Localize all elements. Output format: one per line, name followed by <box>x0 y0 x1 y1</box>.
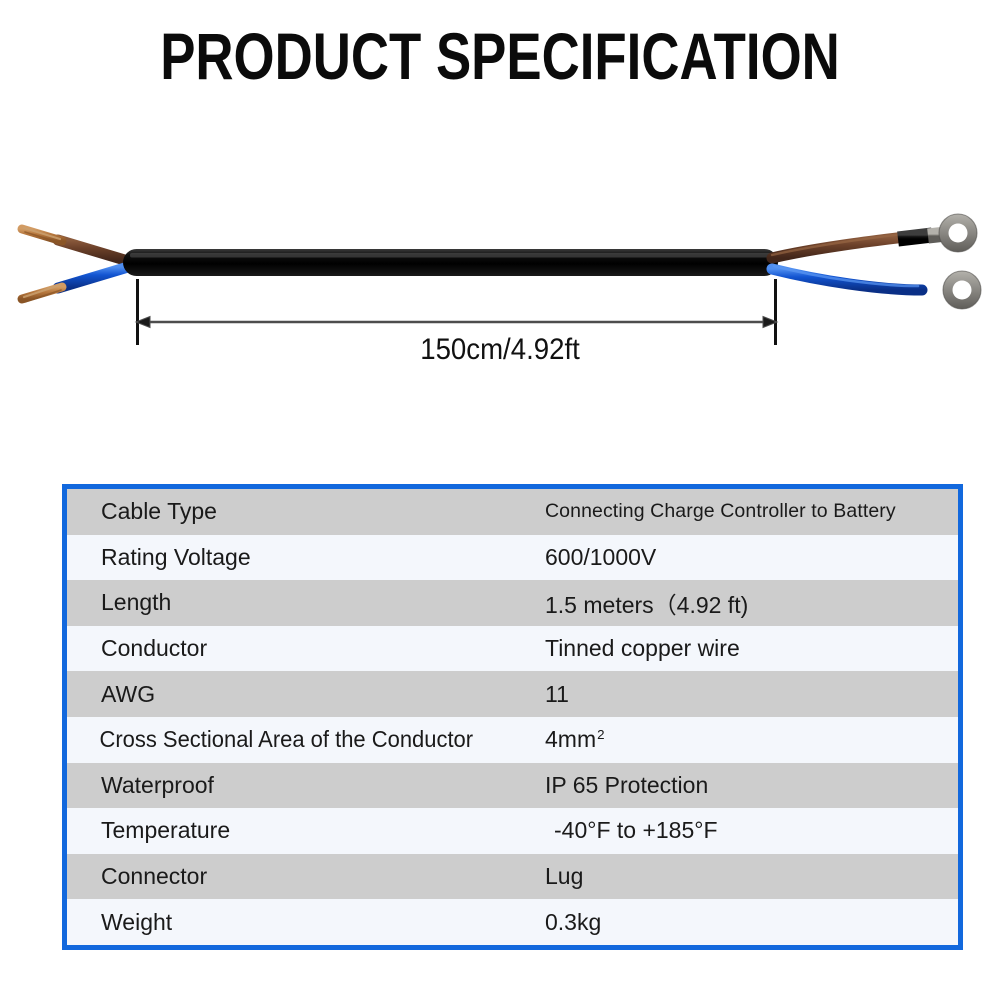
table-row: Cable Type Connecting Charge Controller … <box>67 489 958 535</box>
page-title: PRODUCT SPECIFICATION <box>100 24 900 88</box>
spec-label: Cross Sectional Area of the Conductor <box>67 726 523 753</box>
spec-label: Weight <box>67 909 545 936</box>
spec-label: AWG <box>67 681 545 708</box>
spec-value: -40°F to +185°F <box>545 817 958 844</box>
spec-label: Cable Type <box>67 498 545 525</box>
right-blue-wire-with-lug <box>772 266 981 309</box>
spec-label: Temperature <box>67 817 545 844</box>
spec-value: Connecting Charge Controller to Battery <box>545 500 958 523</box>
spec-value: Tinned copper wire <box>545 635 958 662</box>
table-row: Length 1.5 meters（4.92 ft) <box>67 580 958 626</box>
spec-value: 1.5 meters（4.92 ft) <box>545 586 958 620</box>
spec-value-superscript: 2 <box>596 727 604 742</box>
table-row: Temperature -40°F to +185°F <box>67 808 958 854</box>
spec-value: 600/1000V <box>545 544 958 571</box>
spec-label: Conductor <box>67 635 545 662</box>
spec-label: Rating Voltage <box>67 544 545 571</box>
table-row: Conductor Tinned copper wire <box>67 626 958 672</box>
table-row: Connector Lug <box>67 854 958 900</box>
spec-label: Length <box>67 589 545 616</box>
spec-label: Connector <box>67 863 545 890</box>
right-brown-wire-with-lug <box>772 214 977 258</box>
spec-label: Waterproof <box>67 772 545 799</box>
table-row: Cross Sectional Area of the Conductor 4m… <box>67 717 958 763</box>
table-row: Rating Voltage 600/1000V <box>67 535 958 581</box>
left-stripped-conductors <box>22 228 128 302</box>
table-row: Weight 0.3kg <box>67 899 958 945</box>
cable-black-jacket <box>123 249 778 276</box>
product-specification-table: Cable Type Connecting Charge Controller … <box>62 484 963 950</box>
spec-value: 11 <box>545 681 958 708</box>
dimension-label: 150cm/4.92ft <box>40 333 960 367</box>
spec-value: 0.3kg <box>545 909 958 936</box>
table-row: Waterproof IP 65 Protection <box>67 763 958 809</box>
table-row: AWG 11 <box>67 671 958 717</box>
spec-value: 4mm2 <box>545 726 958 753</box>
spec-value: Lug <box>545 863 958 890</box>
spec-value: IP 65 Protection <box>545 772 958 799</box>
spec-value-text: 4mm <box>545 726 596 752</box>
